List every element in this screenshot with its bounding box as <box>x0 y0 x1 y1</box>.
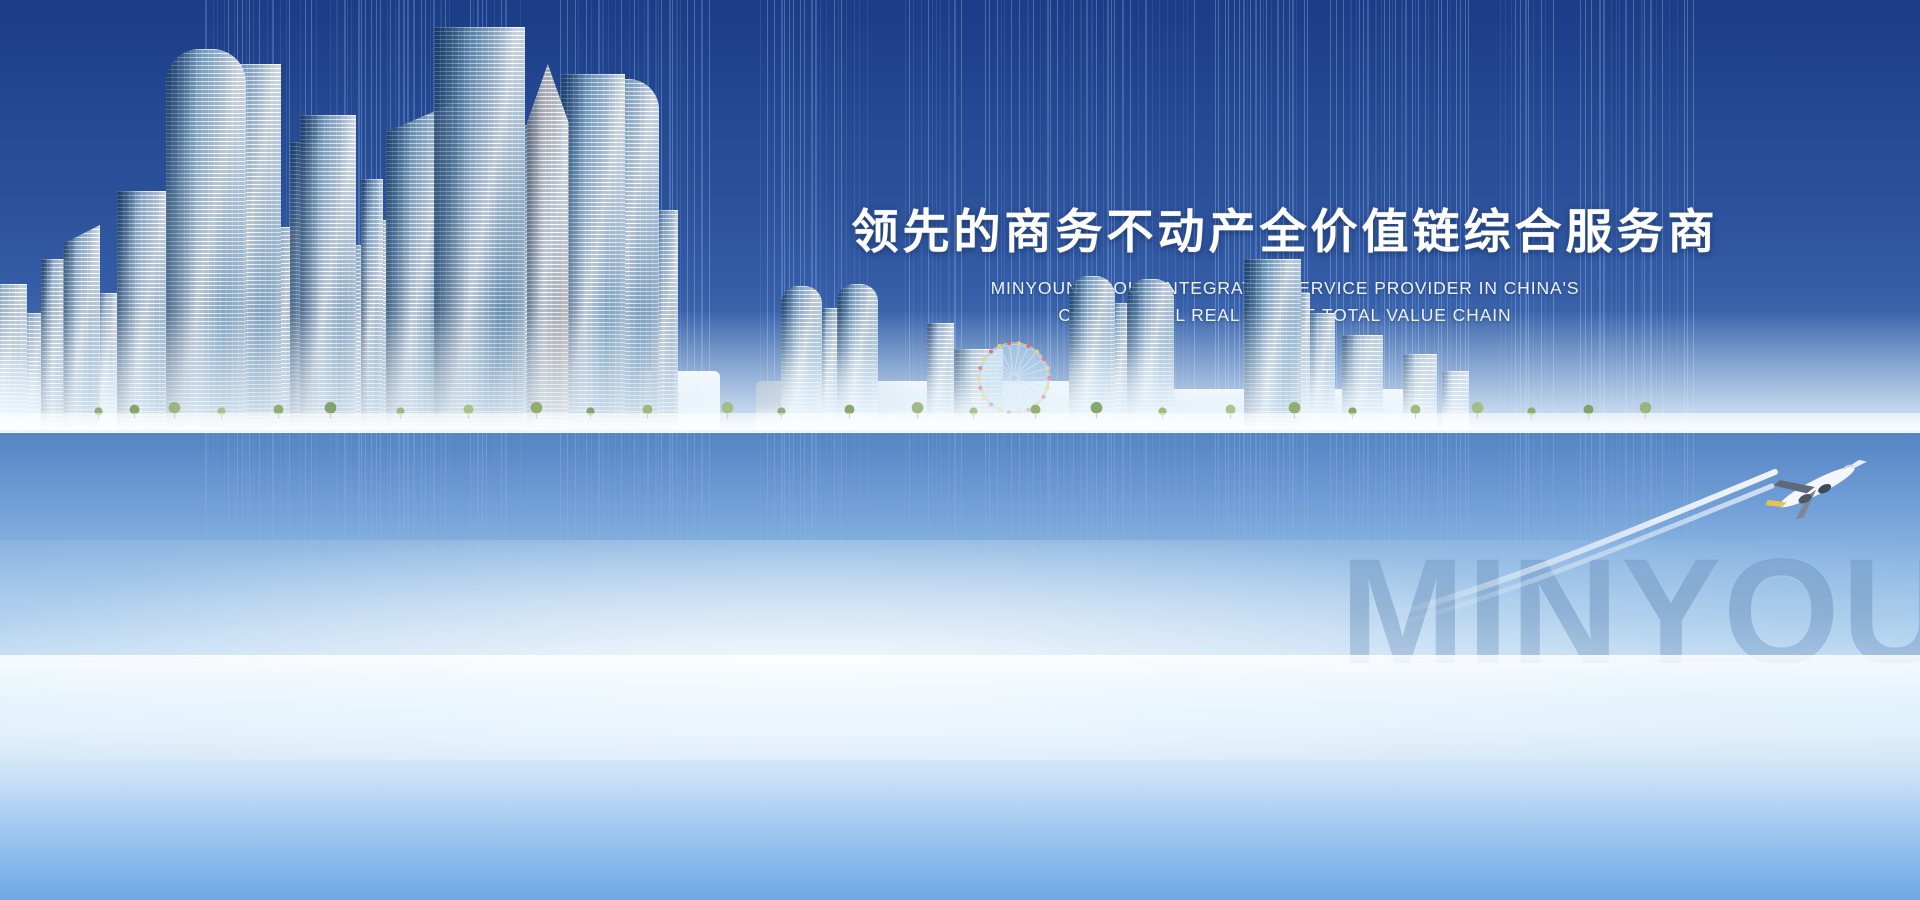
building <box>300 115 356 430</box>
banner-hero: MINYOUN <box>0 0 1920 900</box>
headline-chinese: 领先的商务不动产全价值链综合服务商 <box>830 205 1740 259</box>
building <box>561 74 624 430</box>
building <box>781 286 822 430</box>
city-skyline <box>0 0 1920 665</box>
building <box>527 64 568 430</box>
ferris-wheel-icon <box>975 339 1053 417</box>
building <box>0 284 27 430</box>
ground-plate <box>0 413 1920 433</box>
building <box>434 27 524 430</box>
building <box>117 191 171 430</box>
building <box>166 49 247 430</box>
building <box>63 225 100 430</box>
building <box>361 179 383 430</box>
building <box>1127 279 1173 430</box>
